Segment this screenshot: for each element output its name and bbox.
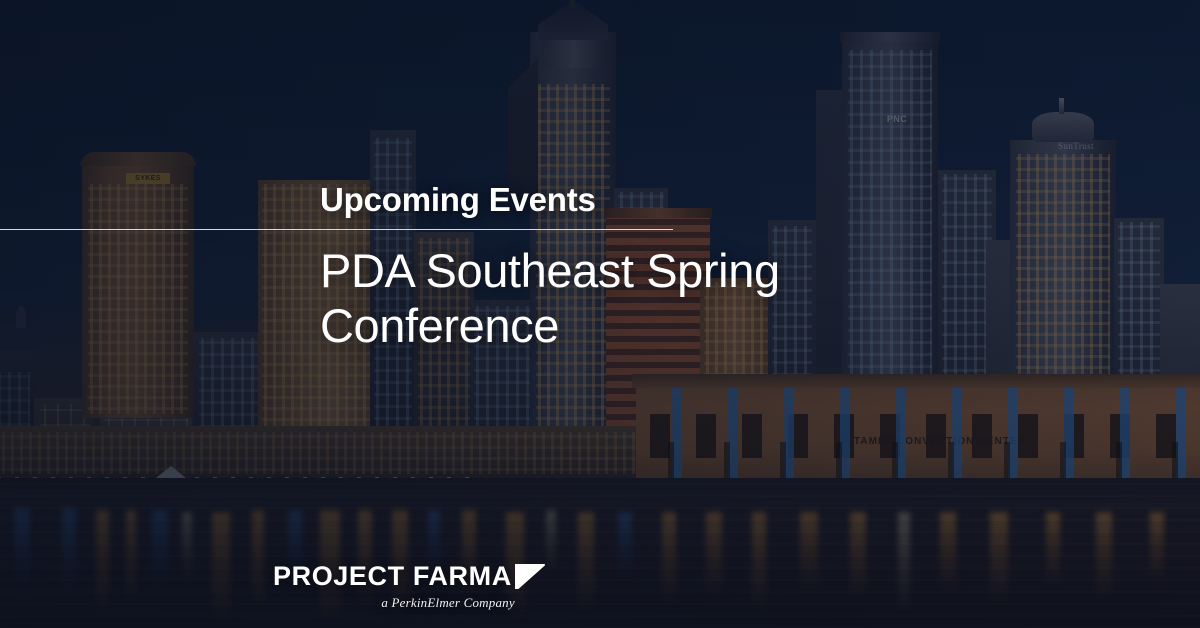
event-banner: SYKES <box>0 0 1200 628</box>
project-farma-logo[interactable]: PROJECT FARMA a PerkinElmer Company <box>273 563 545 611</box>
eyebrow-label: Upcoming Events <box>320 182 596 219</box>
divider-rule <box>0 229 673 230</box>
logo-wordmark-row: PROJECT FARMA <box>273 563 545 590</box>
page-title: PDA Southeast Spring Conference <box>320 244 920 354</box>
triangle-flag-icon <box>515 564 545 589</box>
banner-content: Upcoming Events PDA Southeast Spring Con… <box>0 0 1200 628</box>
logo-tagline: a PerkinElmer Company <box>273 595 545 611</box>
logo-wordmark: PROJECT FARMA <box>273 563 512 590</box>
